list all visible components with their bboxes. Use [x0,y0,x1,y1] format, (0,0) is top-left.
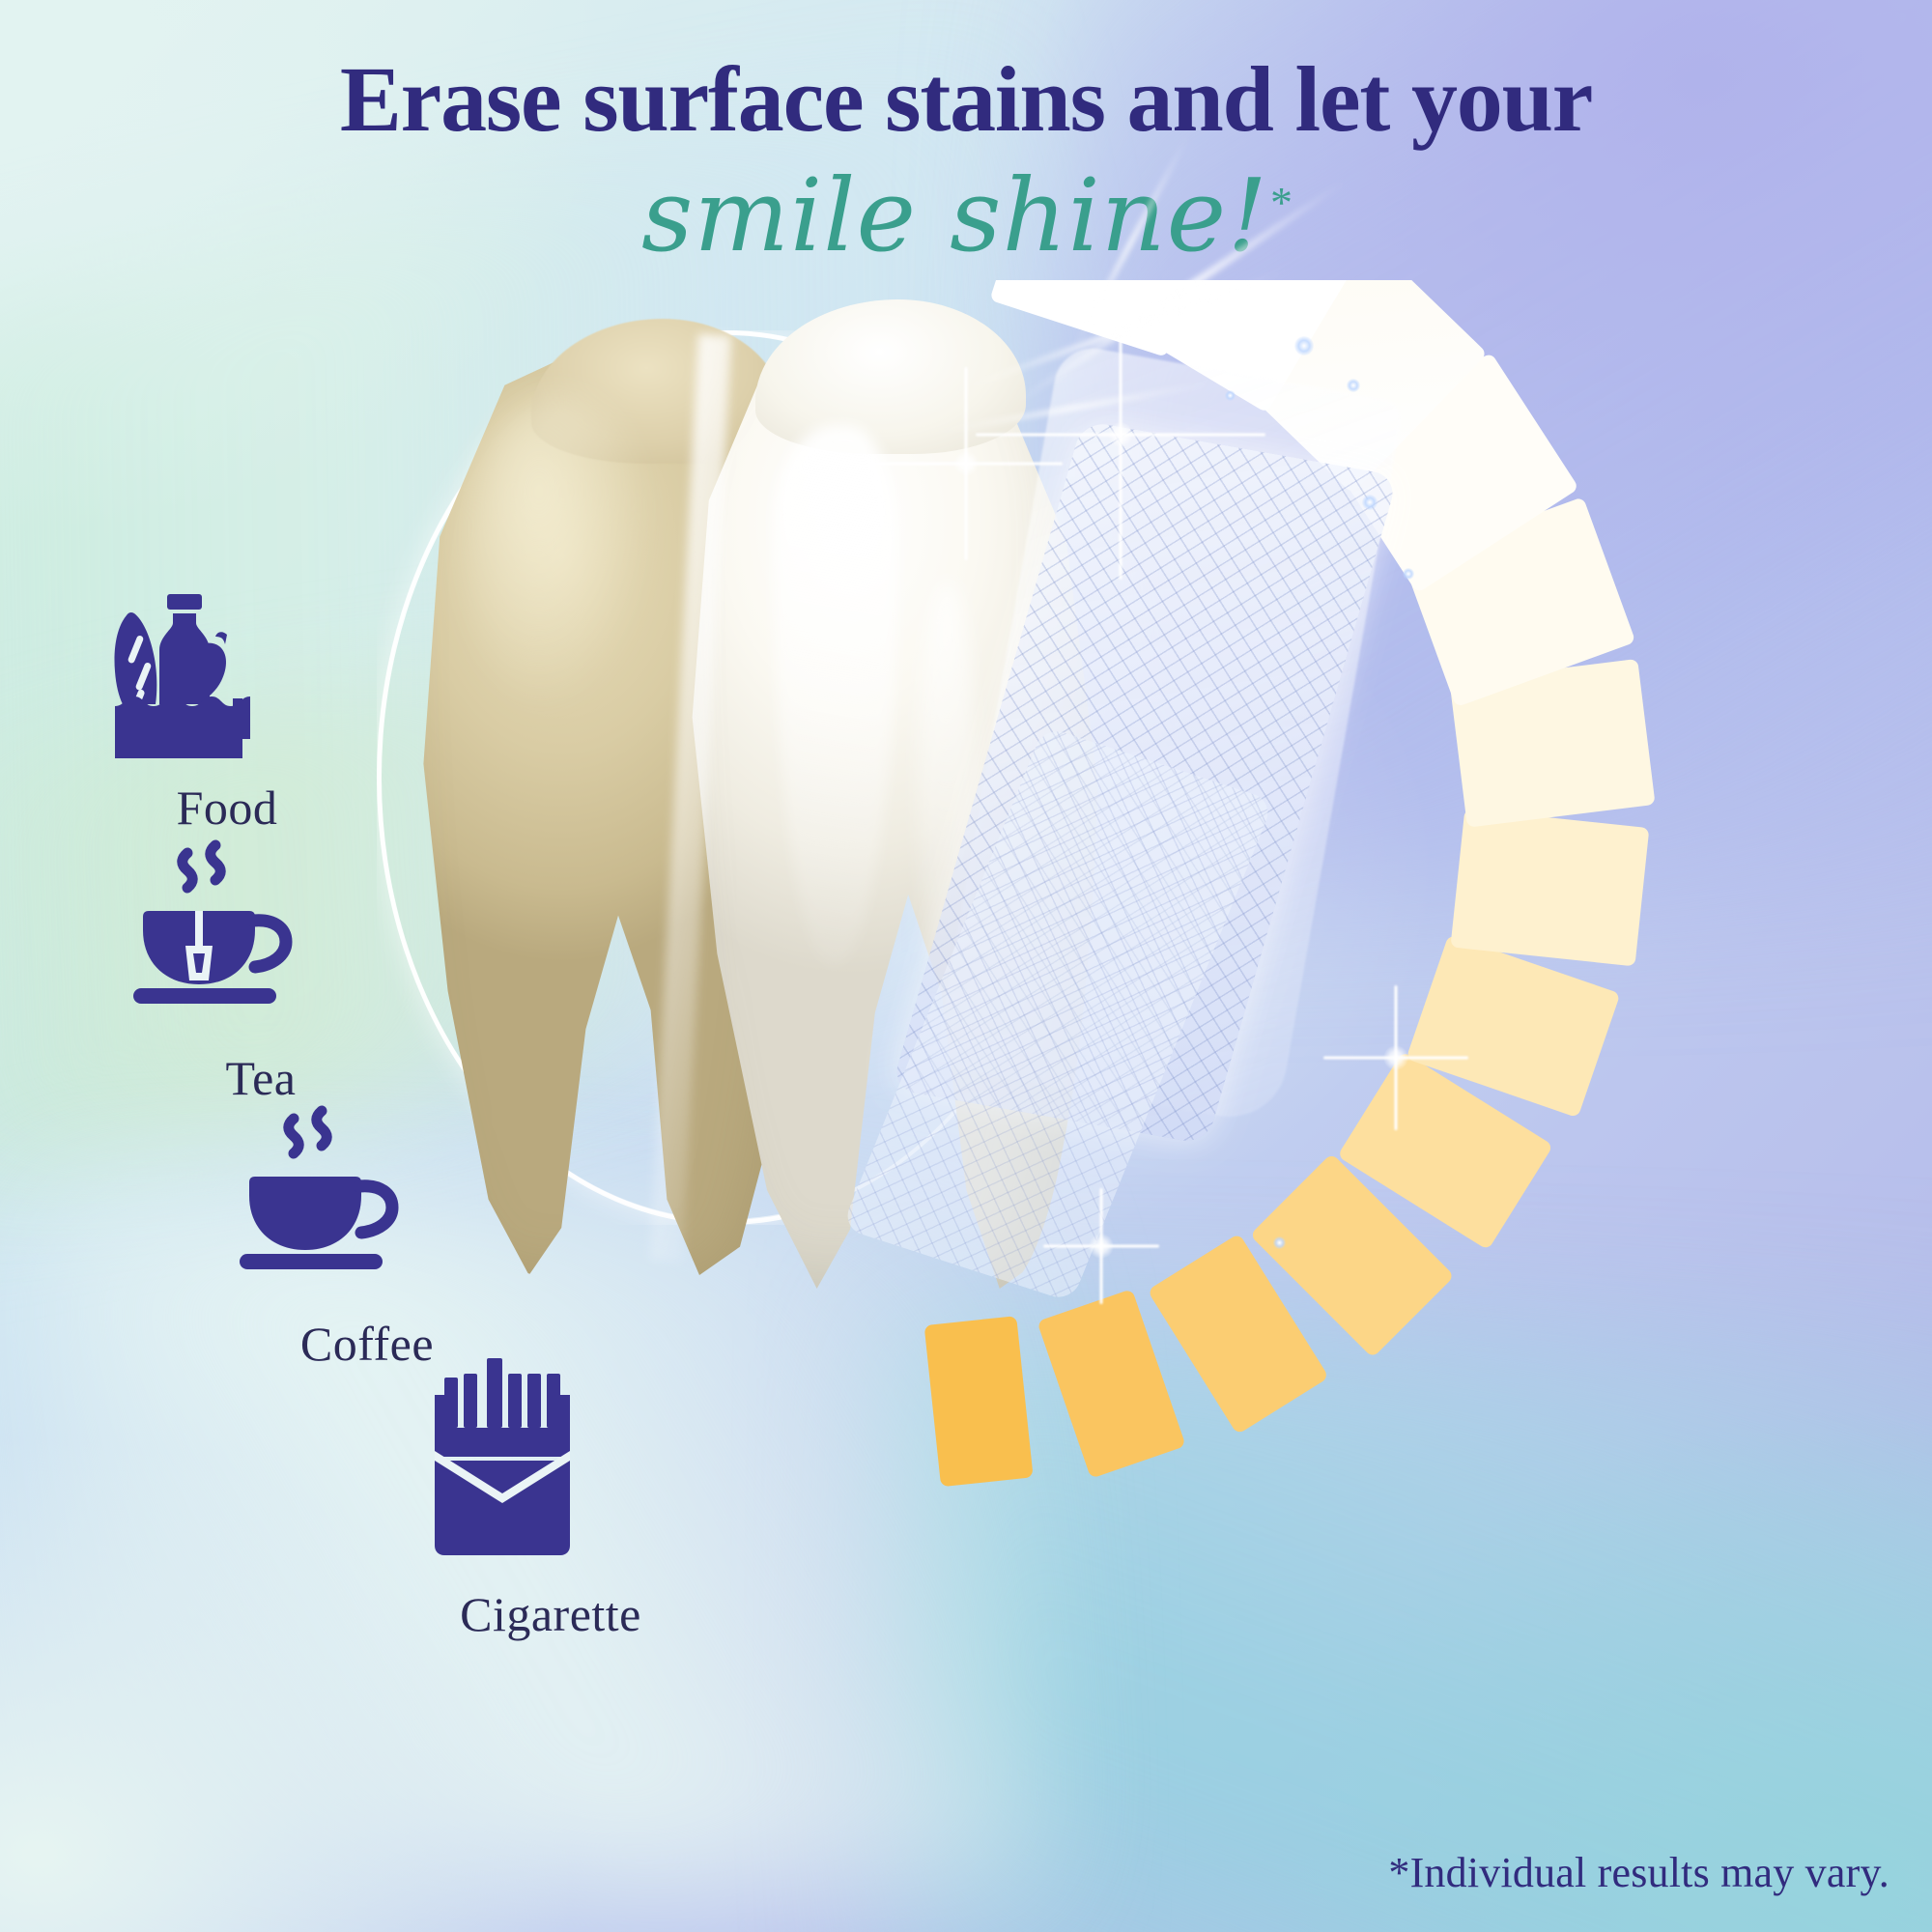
stain-cause-cigarette: Cigarette [415,1352,686,1642]
stained-tooth-highlight [462,396,655,715]
sparkle-dot-icon [1225,390,1236,401]
stain-cause-label: Food [92,780,362,836]
subtitle-text: smile shine! [641,156,1268,274]
sparkle-dot-icon [1362,495,1378,510]
disclaimer-text: *Individual results may vary. [1388,1848,1889,1897]
coffee-cup-icon [232,1101,406,1294]
teacup-icon [126,836,299,1029]
sparkle-dot-icon [1403,568,1414,580]
promo-canvas: Erase surface stains and let your smile … [0,0,1932,1932]
page-title: Erase surface stains and let your [0,50,1932,149]
grocery-bag-icon [92,565,266,758]
stain-cause-coffee: Coffee [232,1101,502,1372]
sparkle-dot-icon [1347,379,1360,392]
cigarette-pack-icon [415,1352,589,1565]
stain-cause-label: Cigarette [415,1586,686,1642]
sparkle-dot-icon [1273,1236,1286,1249]
stain-cause-label: Tea [126,1050,396,1106]
whitened-tooth-cusp [755,299,1026,454]
sparkle-dot-icon [1294,336,1314,355]
stain-cause-tea: Tea [126,836,396,1106]
stain-cause-food: Food [92,565,362,836]
page-subtitle: smile shine!* [0,156,1932,274]
